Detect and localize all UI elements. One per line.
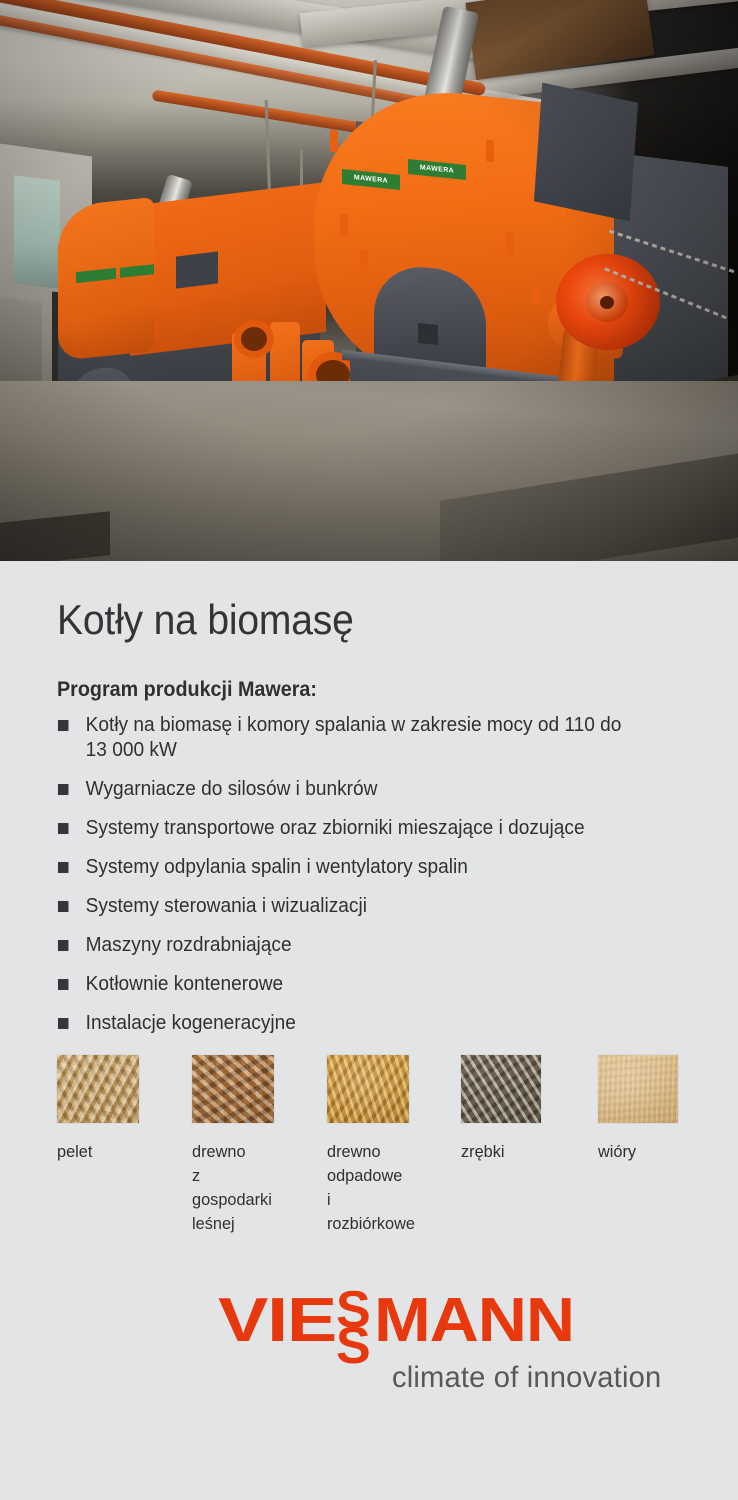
list-item-label: Systemy transportowe oraz zbiorniki mies…	[86, 817, 585, 839]
brand-logo: VIE S S MANN climate of innovation	[0, 1285, 738, 1425]
section-subtitle: Program produkcji Mawera:	[57, 678, 317, 702]
square-bullet-icon	[58, 901, 69, 912]
fuel-caption: pelet	[57, 1140, 136, 1164]
fuel-caption: drewno z gospodarki leśnej	[192, 1140, 271, 1236]
control-cabinet	[0, 298, 42, 388]
fuel-item-drewno-lesne: drewno z gospodarki leśnej	[192, 1055, 274, 1236]
list-item: Systemy sterowania i wizualizacji	[57, 894, 630, 919]
pipe-flange	[234, 320, 274, 358]
fuel-caption: wióry	[598, 1140, 675, 1164]
door-hinge	[486, 140, 494, 163]
door-hinge	[532, 282, 540, 305]
fuel-swatch-forest-wood	[192, 1055, 274, 1123]
list-item-label: Kotłownie kontenerowe	[86, 973, 283, 995]
svg-text:S: S	[336, 1317, 371, 1375]
svg-text:MANN: MANN	[374, 1286, 574, 1355]
list-item: Maszyny rozdrabniające	[57, 933, 630, 958]
hero-photo: MAWERA MAWERA	[0, 0, 738, 561]
fuel-item-drewno-odpadowe: drewno odpadowe i rozbiórkowe	[327, 1055, 409, 1236]
viessmann-wordmark: VIE S S MANN	[218, 1285, 578, 1341]
door-hinge	[360, 250, 368, 273]
mawera-badge-label: MAWERA	[354, 174, 388, 185]
list-item-label: Systemy sterowania i wizualizacji	[86, 895, 367, 917]
fuel-caption: zrębki	[461, 1140, 538, 1164]
fuel-item-wiory: wióry	[598, 1055, 678, 1164]
fan-hub	[600, 296, 614, 309]
fuel-swatch-wood-chips	[461, 1055, 541, 1123]
list-item: Instalacje kogeneracyjne	[57, 1011, 630, 1036]
list-item: Systemy odpylania spalin i wentylatory s…	[57, 855, 630, 880]
boiler-top-plate	[534, 83, 638, 222]
fuel-types-row: pelet drewno z gospodarki leśnej drewno …	[0, 1055, 738, 1255]
list-item-label: Wygarniacze do silosów i bunkrów	[86, 778, 378, 800]
list-item: Wygarniacze do silosów i bunkrów	[57, 777, 630, 802]
brand-tagline: climate of innovation	[392, 1361, 661, 1395]
product-program-list: Kotły na biomasę i komory spalania w zak…	[57, 713, 657, 1050]
square-bullet-icon	[58, 862, 69, 873]
list-item: Kotły na biomasę i komory spalania w zak…	[57, 713, 630, 763]
fuel-swatch-pellet	[57, 1055, 139, 1123]
hatch-handle	[418, 323, 438, 345]
fuel-item-zrebki: zrębki	[461, 1055, 541, 1164]
mawera-badge-label: MAWERA	[420, 164, 454, 175]
list-item-label: Maszyny rozdrabniające	[86, 934, 292, 956]
square-bullet-icon	[58, 979, 69, 990]
fuel-swatch-shavings	[598, 1055, 678, 1123]
boiler-room-scene: MAWERA MAWERA	[0, 0, 738, 561]
door-hinge	[506, 232, 514, 255]
svg-text:VIE: VIE	[218, 1286, 336, 1355]
list-item-label: Systemy odpylania spalin i wentylatory s…	[86, 856, 468, 878]
fuel-caption: drewno odpadowe i rozbiórkowe	[327, 1140, 406, 1236]
fuel-item-pelet: pelet	[57, 1055, 139, 1164]
fuel-swatch-waste-wood	[327, 1055, 409, 1123]
square-bullet-icon	[58, 720, 69, 731]
window-pane	[14, 175, 60, 289]
list-item-label: Kotły na biomasę i komory spalania w zak…	[86, 714, 622, 761]
door-hinge	[340, 214, 348, 237]
list-item-label: Instalacje kogeneracyjne	[86, 1012, 296, 1034]
square-bullet-icon	[58, 1018, 69, 1029]
list-item: Kotłownie kontenerowe	[57, 972, 630, 997]
square-bullet-icon	[58, 823, 69, 834]
square-bullet-icon	[58, 784, 69, 795]
page-title: Kotły na biomasę	[57, 596, 354, 644]
door-hinge	[330, 130, 338, 153]
boiler-panel	[176, 251, 218, 288]
list-item: Systemy transportowe oraz zbiorniki mies…	[57, 816, 630, 841]
square-bullet-icon	[58, 940, 69, 951]
